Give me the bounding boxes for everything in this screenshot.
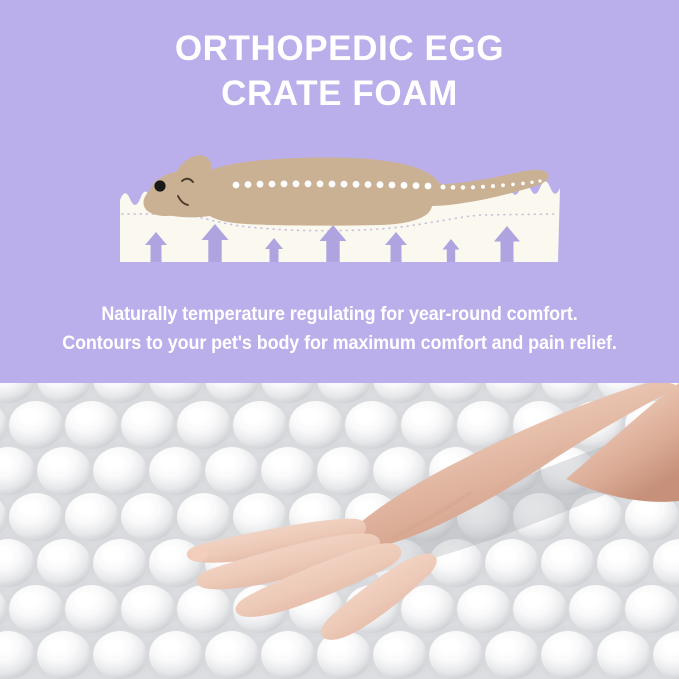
egg-crate-foam-closeup-photo: [0, 383, 679, 679]
headline-line-2: CRATE FOAM: [0, 71, 679, 116]
body-copy-line-2: Contours to your pet's body for maximum …: [27, 329, 652, 358]
page-title: ORTHOPEDIC EGG CRATE FOAM: [0, 26, 679, 116]
body-copy-line-1: Naturally temperature regulating for yea…: [27, 300, 652, 329]
dog-nose: [154, 180, 165, 191]
feature-description: Naturally temperature regulating for yea…: [0, 300, 679, 357]
product-infographic: ORTHOPEDIC EGG CRATE FOAM: [0, 0, 679, 679]
purple-info-panel: ORTHOPEDIC EGG CRATE FOAM: [0, 0, 679, 383]
dog-on-foam-illustration: [0, 126, 679, 284]
headline-line-1: ORTHOPEDIC EGG: [0, 26, 679, 71]
